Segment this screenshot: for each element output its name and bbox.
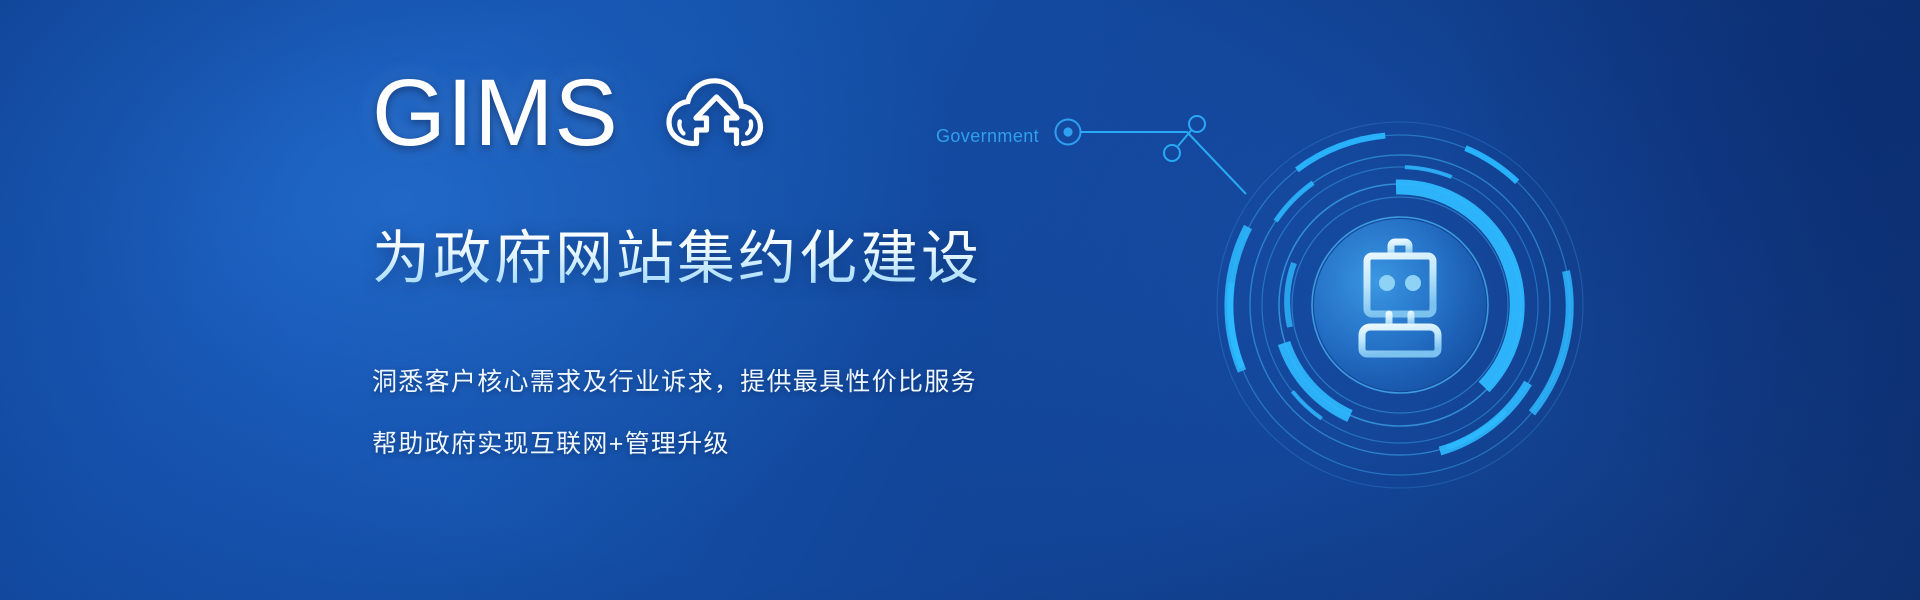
gims-hero-banner: GIMS 为政府网站集约化建设 洞悉客户核心需求及行业诉求，提供最具性价比服务 …: [0, 0, 1920, 600]
ring-arc-bottom-right: [1440, 383, 1528, 451]
brand-row: GIMS: [372, 66, 767, 161]
subcopy-line-1: 洞悉客户核心需求及行业诉求，提供最具性价比服务: [372, 362, 977, 398]
government-node-label: Government: [936, 126, 1039, 147]
brand-title: GIMS: [372, 66, 619, 161]
subcopy-line-2: 帮助政府实现互联网+管理升级: [372, 424, 977, 460]
page-title: 为政府网站集约化建设: [372, 225, 982, 293]
ring-arc-left-outer: [1229, 227, 1248, 371]
cloud-upload-icon: [663, 75, 767, 153]
circle-node-icon: [1056, 120, 1081, 145]
connector-node-upper: [1189, 116, 1205, 132]
hero-copy-block: GIMS 为政府网站集约化建设 洞悉客户核心需求及行业诉求，提供最具性价比服务 …: [372, 0, 1272, 600]
connector-node-lower: [1164, 145, 1180, 161]
hero-subcopy: 洞悉客户核心需求及行业诉求，提供最具性价比服务 帮助政府实现互联网+管理升级: [372, 362, 977, 460]
tech-ring-graphic: [1205, 110, 1595, 500]
